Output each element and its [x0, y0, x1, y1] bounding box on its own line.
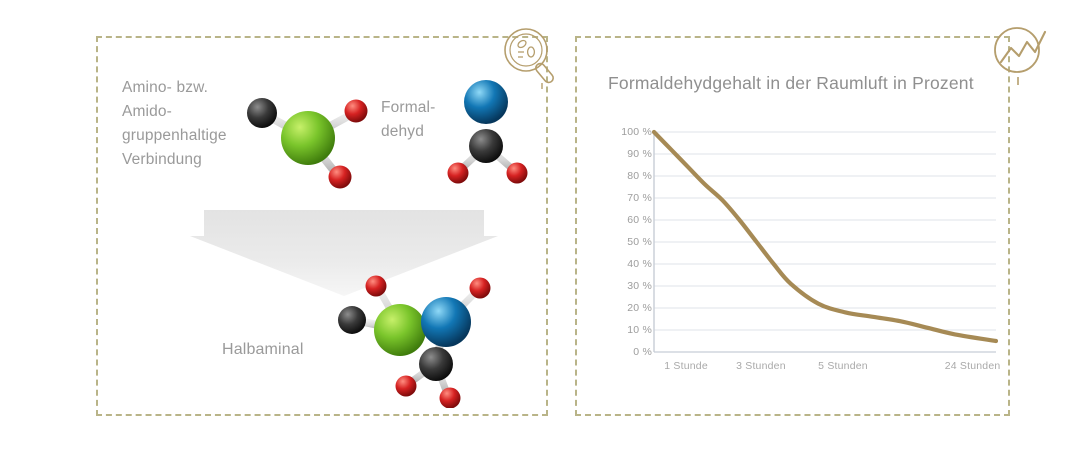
trend-chart-icon	[988, 22, 1054, 88]
x-axis-tick-label: 3 Stunden	[736, 360, 786, 372]
x-axis-tick-label: 1 Stunde	[664, 360, 708, 372]
y-axis-tick-label: 20 %	[606, 302, 652, 314]
amino-compound-molecule	[238, 82, 374, 194]
y-axis-tick-label: 10 %	[606, 324, 652, 336]
y-axis-tick-label: 100 %	[606, 126, 652, 138]
y-axis-tick-label: 80 %	[606, 170, 652, 182]
y-axis-tick-label: 90 %	[606, 148, 652, 160]
y-axis-tick-label: 0 %	[606, 346, 652, 358]
halbaminal-molecule	[324, 272, 510, 408]
x-axis-tick-label: 24 Stunden	[945, 360, 1001, 372]
y-axis-tick-label: 30 %	[606, 280, 652, 292]
y-axis-tick-label: 50 %	[606, 236, 652, 248]
y-axis-ticks: 100 %90 %80 %70 %60 %50 %40 %30 %20 %10 …	[598, 122, 652, 352]
slide-canvas: Amino- bzw. Amido- gruppenhaltige Verbin…	[0, 0, 1080, 462]
x-axis-tick-label: 5 Stunden	[818, 360, 868, 372]
formaldehyde-molecule	[432, 68, 542, 190]
y-axis-tick-label: 70 %	[606, 192, 652, 204]
line-chart: 100 %90 %80 %70 %60 %50 %40 %30 %20 %10 …	[598, 122, 998, 382]
y-axis-tick-label: 60 %	[606, 214, 652, 226]
chart-series-line	[654, 132, 996, 341]
y-axis-tick-label: 40 %	[606, 258, 652, 270]
chart-title: Formaldehydgehalt in der Raumluft in Pro…	[608, 73, 974, 94]
chart-gridlines	[654, 132, 996, 352]
chart-plot-area	[652, 122, 998, 364]
